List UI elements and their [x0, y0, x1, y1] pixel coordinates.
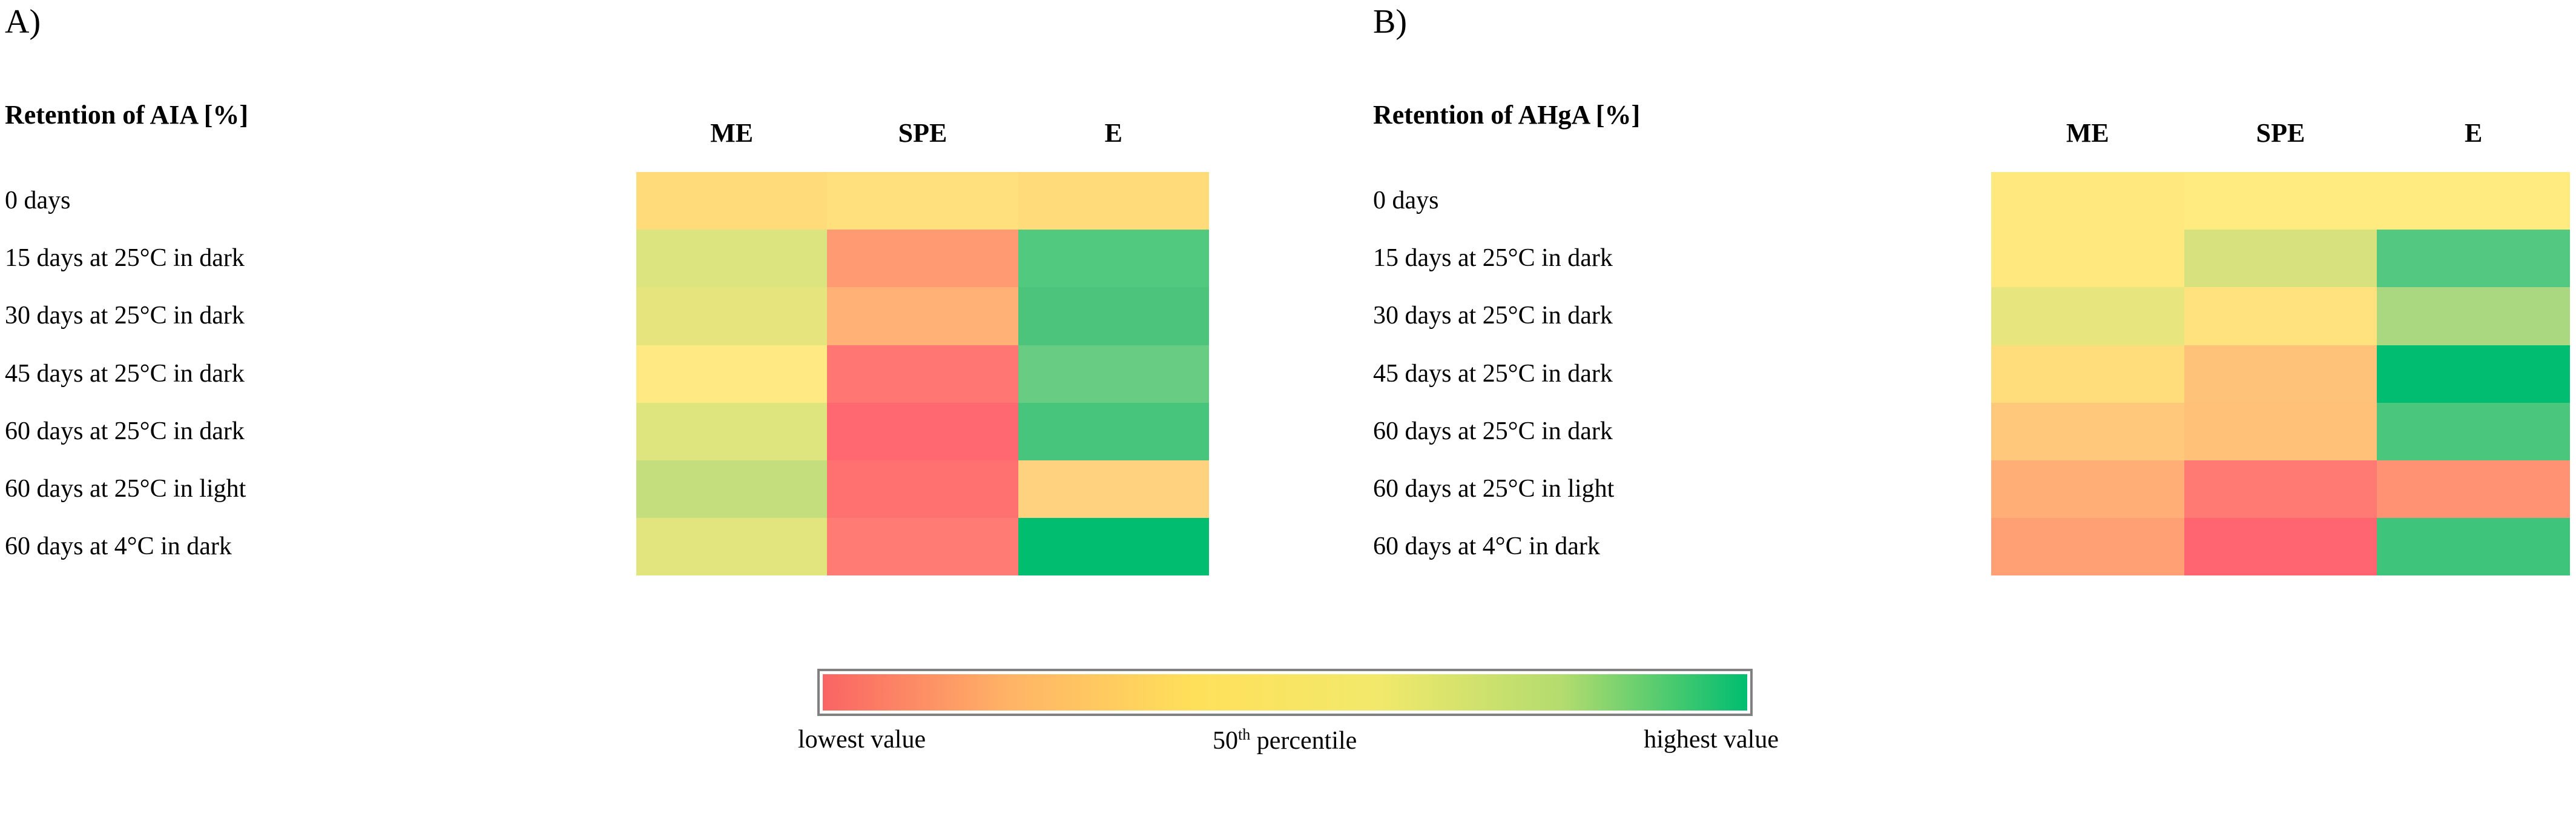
heatmap-cell [827, 172, 1018, 230]
panel-a-heatmap-grid [636, 172, 1209, 575]
heatmap-cell [2184, 403, 2377, 460]
column-header-e: E [1018, 120, 1209, 156]
heatmap-cell [636, 172, 827, 230]
heatmap-cell [827, 460, 1018, 518]
column-header-me: ME [1991, 120, 2184, 156]
heatmap-cell [2184, 518, 2377, 575]
heatmap-cell [1018, 345, 1209, 403]
heatmap-cell [2184, 287, 2377, 345]
panel-b-title: Retention of AHgA [%] [1373, 102, 1640, 128]
heatmap-cell [2184, 460, 2377, 518]
heatmap-cell [2184, 172, 2377, 230]
row-label: 60 days at 4°C in dark [5, 518, 610, 575]
heatmap-cell [636, 518, 827, 575]
row-label: 60 days at 25°C in light [1373, 460, 1978, 518]
panel-a-column-headers: ME SPE E [636, 120, 1209, 156]
row-label: 60 days at 25°C in dark [5, 403, 610, 460]
panel-a-title: Retention of AIA [%] [5, 102, 248, 128]
column-header-e: E [2377, 120, 2570, 156]
heatmap-cell [636, 287, 827, 345]
heatmap-cell [1018, 403, 1209, 460]
row-label: 30 days at 25°C in dark [1373, 287, 1978, 345]
row-label: 30 days at 25°C in dark [5, 287, 610, 345]
panel-b-letter: B) [1373, 5, 1407, 39]
heatmap-cell [1018, 287, 1209, 345]
color-scale-gradient [823, 674, 1747, 711]
heatmap-cell [1018, 172, 1209, 230]
heatmap-cell [1991, 230, 2184, 287]
panel-a-row-labels: 0 days 15 days at 25°C in dark 30 days a… [5, 172, 610, 575]
heatmap-cell [827, 230, 1018, 287]
heatmap-cell [1991, 403, 2184, 460]
heatmap-cell [1991, 518, 2184, 575]
heatmap-cell [636, 460, 827, 518]
heatmap-cell [636, 345, 827, 403]
row-label: 15 days at 25°C in dark [1373, 230, 1978, 287]
heatmap-cell [2377, 230, 2570, 287]
heatmap-cell [2377, 287, 2570, 345]
panel-b-row-labels: 0 days 15 days at 25°C in dark 30 days a… [1373, 172, 1978, 575]
heatmap-cell [1018, 460, 1209, 518]
heatmap-cell [1991, 287, 2184, 345]
panel-b-column-headers: ME SPE E [1991, 120, 2570, 156]
heatmap-cell [2184, 345, 2377, 403]
heatmap-cell [827, 518, 1018, 575]
heatmap-cell [827, 287, 1018, 345]
color-scale-legend [817, 669, 1753, 716]
panel-b-heatmap-grid [1991, 172, 2570, 575]
heatmap-cell [1991, 172, 2184, 230]
heatmap-cell [2377, 460, 2570, 518]
heatmap-cell [2377, 345, 2570, 403]
row-label: 60 days at 4°C in dark [1373, 518, 1978, 575]
heatmap-cell [2377, 403, 2570, 460]
heatmap-cell [2377, 518, 2570, 575]
row-label: 45 days at 25°C in dark [5, 345, 610, 403]
legend-label-median: 50th percentile [1213, 727, 1357, 754]
row-label: 45 days at 25°C in dark [1373, 345, 1978, 403]
row-label: 60 days at 25°C in dark [1373, 403, 1978, 460]
heatmap-cell [1018, 230, 1209, 287]
panel-a-letter: A) [5, 5, 41, 39]
row-label: 60 days at 25°C in light [5, 460, 610, 518]
row-label: 0 days [1373, 172, 1978, 230]
legend-label-highest: highest value [1644, 727, 1779, 754]
heatmap-cell [1991, 460, 2184, 518]
legend-label-lowest: lowest value [798, 727, 926, 754]
legend-median-ordinal: th [1238, 726, 1250, 743]
heatmap-cell [1991, 345, 2184, 403]
heatmap-cell [636, 403, 827, 460]
heatmap-cell [827, 345, 1018, 403]
color-scale-labels: lowest value 50th percentile highest val… [798, 727, 1779, 754]
legend-median-number: 50 [1213, 727, 1238, 755]
column-header-spe: SPE [827, 120, 1018, 156]
heatmap-cell [827, 403, 1018, 460]
heatmap-cell [636, 230, 827, 287]
column-header-me: ME [636, 120, 827, 156]
heatmap-cell [2377, 172, 2570, 230]
row-label: 15 days at 25°C in dark [5, 230, 610, 287]
heatmap-cell [1018, 518, 1209, 575]
row-label: 0 days [5, 172, 610, 230]
column-header-spe: SPE [2184, 120, 2377, 156]
legend-median-word: percentile [1250, 727, 1357, 755]
heatmap-cell [2184, 230, 2377, 287]
